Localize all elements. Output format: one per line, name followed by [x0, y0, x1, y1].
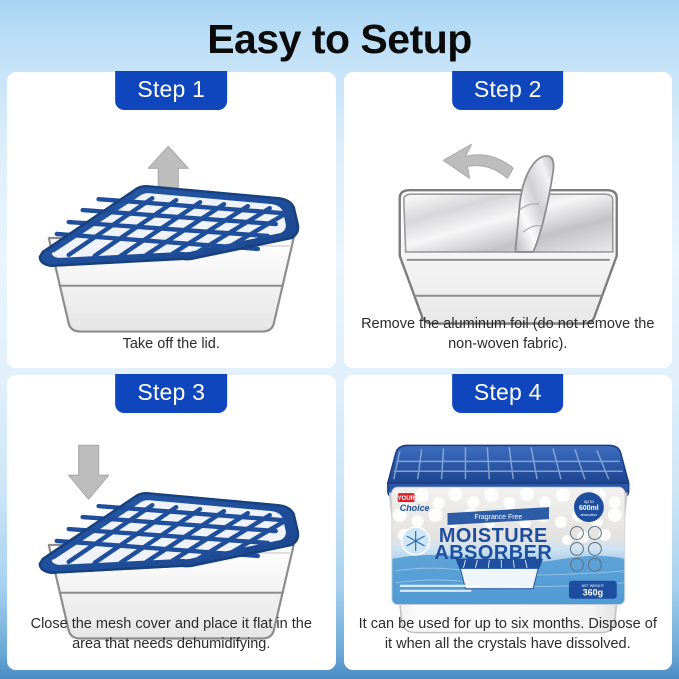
- step-card-3: Step 3: [7, 375, 336, 671]
- step-caption-1: Take off the lid.: [21, 334, 322, 354]
- curved-up-left-arrow-icon: [443, 144, 513, 178]
- svg-text:600ml: 600ml: [579, 505, 599, 512]
- svg-text:Choice: Choice: [399, 503, 429, 513]
- step-caption-2: Remove the aluminum foil (do not remove …: [358, 314, 659, 354]
- svg-text:360g: 360g: [582, 587, 602, 597]
- svg-text:up to: up to: [583, 499, 593, 504]
- weight-badge: NET WEIGHT 360g: [568, 580, 616, 598]
- page-title: Easy to Setup: [0, 14, 679, 64]
- fragrance-free-text: Fragrance Free: [474, 514, 522, 521]
- svg-text:YOUR: YOUR: [397, 496, 415, 502]
- step-badge-4: Step 4: [452, 374, 564, 413]
- steps-grid: Step 1: [7, 72, 672, 670]
- step-badge-2: Step 2: [452, 71, 564, 110]
- crystal-circle-icon: [401, 527, 429, 555]
- step-caption-3: Close the mesh cover and place it flat i…: [21, 614, 322, 654]
- step-badge-1: Step 1: [115, 71, 227, 110]
- step-badge-3: Step 3: [115, 374, 227, 413]
- step-card-4: Step 4: [344, 375, 673, 671]
- instruction-graphic: Easy to Setup Step 1: [0, 0, 679, 679]
- step-card-1: Step 1: [7, 72, 336, 368]
- down-arrow-icon: [69, 445, 109, 499]
- product-label: YOUR Choice Fragrance Free MOISTURE ABSO…: [391, 487, 624, 604]
- step-illustration-1: [7, 106, 336, 356]
- svg-text:absorption: absorption: [580, 513, 597, 517]
- label-product-icon: [455, 558, 543, 588]
- step-caption-4: It can be used for up to six months. Dis…: [358, 614, 659, 654]
- capacity-badge: up to 600ml absorption: [573, 492, 603, 522]
- step-card-2: Step 2: [344, 72, 673, 368]
